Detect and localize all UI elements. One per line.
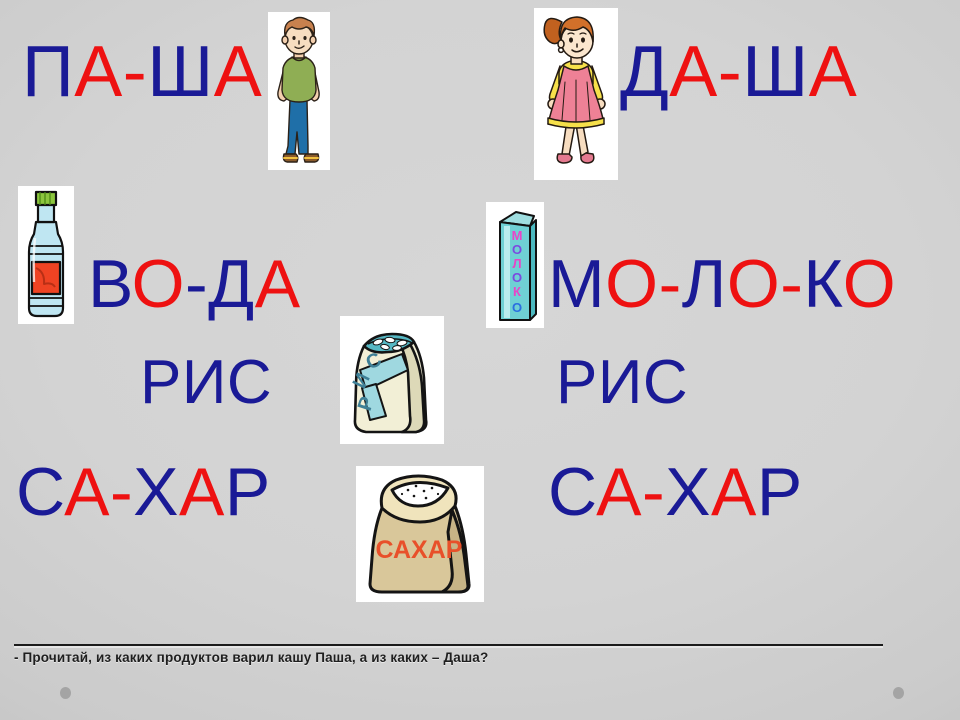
letter-Р: Р	[556, 348, 598, 417]
slide-canvas: ПА-ША	[0, 0, 960, 720]
svg-text:Л: Л	[512, 256, 521, 271]
letter--: -	[123, 32, 147, 112]
letter-Д: Д	[208, 246, 255, 322]
word-ris-left: РИС	[140, 352, 272, 414]
letter-О: О	[727, 246, 780, 322]
letter-А: А	[179, 454, 225, 530]
svg-text:САХАР: САХАР	[376, 536, 463, 564]
word-moloko: МО-ЛО-КО	[548, 250, 896, 318]
letter--: -	[780, 246, 803, 322]
letter-О: О	[843, 246, 896, 322]
letter-Р: Р	[757, 454, 803, 530]
decorative-dot-left	[60, 687, 71, 699]
letter-С: С	[227, 348, 272, 417]
letter-К: К	[803, 246, 842, 322]
rice-bag-clipart: Р И С	[340, 316, 444, 444]
letter-А: А	[711, 454, 757, 530]
sugar-bag-clipart: САХАР	[356, 466, 484, 602]
word-pasha: ПА-ША	[22, 36, 262, 108]
letter-Х: Х	[133, 454, 179, 530]
letter--: -	[642, 454, 665, 530]
word-sahar-left: СА-ХАР	[16, 458, 271, 526]
letter-А: А	[809, 32, 858, 112]
letter-Х: Х	[665, 454, 711, 530]
letter-М: М	[548, 246, 605, 322]
letter-С: С	[643, 348, 688, 417]
letter-Ш: Ш	[147, 32, 214, 112]
letter--: -	[659, 246, 682, 322]
svg-text:О: О	[512, 270, 522, 285]
letter--: -	[110, 454, 133, 530]
svg-text:М: М	[512, 228, 523, 243]
word-dasha: ДА-ША	[620, 36, 857, 108]
letter-И: И	[182, 348, 227, 417]
letter-О: О	[605, 246, 658, 322]
letter--: -	[185, 246, 208, 322]
caption-divider	[14, 644, 883, 646]
milk-carton-clipart: М О Л О К О	[486, 202, 544, 328]
svg-text:К: К	[513, 284, 521, 299]
letter-С: С	[16, 454, 64, 530]
word-ris-right: РИС	[556, 352, 688, 414]
letter-В: В	[88, 246, 132, 322]
letter--: -	[718, 32, 742, 112]
letter-Р: Р	[140, 348, 182, 417]
letter-Л: Л	[682, 246, 727, 322]
svg-text:О: О	[512, 300, 522, 315]
water-bottle-clipart	[18, 186, 74, 324]
letter-А: А	[596, 454, 642, 530]
letter-С: С	[548, 454, 596, 530]
letter-А: А	[669, 32, 718, 112]
letter-А: А	[214, 32, 263, 112]
decorative-dot-right	[893, 687, 904, 699]
letter-Д: Д	[620, 32, 669, 112]
letter-И: И	[598, 348, 643, 417]
word-voda: ВО-ДА	[88, 250, 301, 318]
letter-Р: Р	[225, 454, 271, 530]
boy-clipart	[268, 12, 330, 170]
letter-П: П	[22, 32, 74, 112]
word-sahar-right: СА-ХАР	[548, 458, 803, 526]
letter-А: А	[255, 246, 301, 322]
caption-text: - Прочитай, из каких продуктов варил каш…	[14, 650, 914, 665]
letter-А: А	[74, 32, 123, 112]
svg-text:О: О	[512, 242, 522, 257]
letter-О: О	[132, 246, 185, 322]
letter-А: А	[64, 454, 110, 530]
letter-Ш: Ш	[742, 32, 809, 112]
girl-clipart	[534, 8, 618, 180]
